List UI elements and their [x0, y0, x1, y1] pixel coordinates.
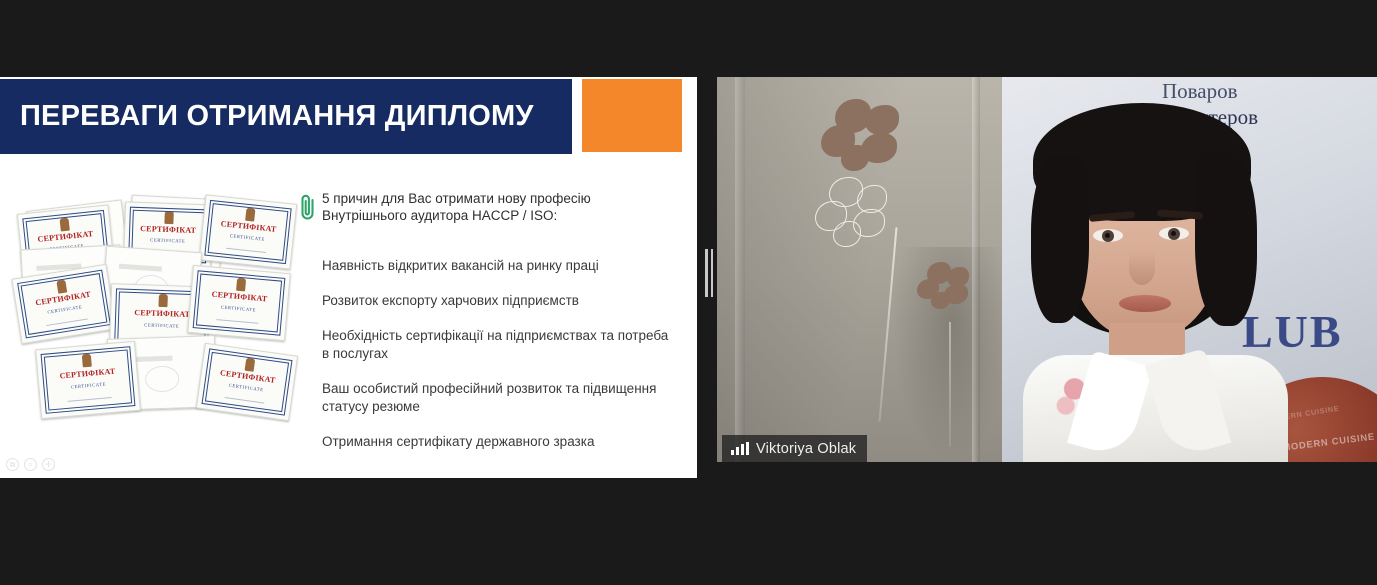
handle-bar: [705, 249, 708, 297]
handle-bar: [711, 249, 714, 297]
slide-intro-text: 5 причин для Вас отримати нову професію …: [322, 190, 672, 224]
shared-screen-slide[interactable]: ПЕРЕВАГИ ОТРИМАННЯ ДИПЛОМУ СЕРТИФІКАТ CE…: [0, 77, 697, 478]
eye-left: [1093, 229, 1123, 242]
participant-video-tile[interactable]: Поваров Кондитеров ReCa: зя тво LUB MODE…: [717, 77, 1377, 462]
zoom-icon[interactable]: ⌕: [24, 458, 37, 471]
nose: [1129, 251, 1155, 285]
eye-right: [1159, 227, 1189, 240]
slide-bullet-list: Наявність відкритих вакансій на ринку пр…: [322, 257, 674, 468]
participant-person: [1017, 105, 1287, 462]
list-item: Наявність відкритих вакансій на ринку пр…: [322, 257, 674, 275]
paperclip-icon: [299, 192, 317, 222]
signal-bars-icon: [731, 442, 749, 455]
hair-left: [1031, 155, 1089, 323]
participant-name-badge: Viktoriya Oblak: [722, 435, 867, 462]
participant-name: Viktoriya Oblak: [756, 441, 856, 457]
flower-stem: [949, 322, 951, 447]
poster-line-1: Поваров: [1162, 79, 1238, 104]
fit-page-icon[interactable]: ⧉: [6, 458, 19, 471]
wall-seam: [735, 77, 745, 462]
pan-icon[interactable]: ✛: [42, 458, 55, 471]
pane-resize-handle[interactable]: [702, 247, 716, 299]
list-item: Розвиток експорту харчових підприємств: [322, 292, 674, 310]
list-item: Отримання сертифікату державного зразка: [322, 433, 674, 451]
flower-motif-icon: [813, 177, 897, 255]
list-item: Необхідність сертифікації на підприємств…: [322, 327, 674, 363]
flower-motif-icon: [915, 262, 977, 320]
lips: [1119, 295, 1171, 312]
list-item: Ваш особистий професійний розвиток та пі…: [322, 380, 674, 416]
wall-edge: [972, 77, 980, 462]
flower-motif-icon: [817, 99, 913, 187]
hair-right: [1195, 151, 1257, 326]
slide-viewer-controls[interactable]: ⧉ ⌕ ✛: [6, 458, 55, 471]
